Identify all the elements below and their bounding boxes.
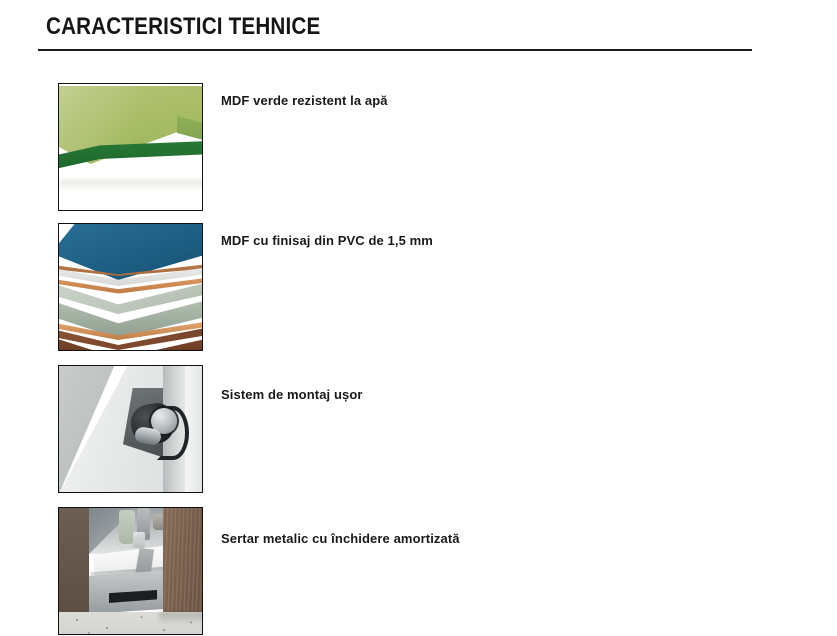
- page-header: CARACTERISTICI TEHNICE: [0, 0, 837, 58]
- green-mdf-board-illustration: [59, 84, 202, 210]
- feature-image-mounting-system: [58, 365, 203, 493]
- feature-row: Sertar metalic cu închidere amortizată: [0, 507, 837, 635]
- cabinet-shadow: [159, 612, 203, 624]
- feature-label: Sertar metalic cu închidere amortizată: [221, 531, 460, 546]
- feature-row: MDF verde rezistent la apă: [0, 83, 837, 211]
- mounting-hardware-illustration: [59, 366, 202, 492]
- cabinet-left-side: [59, 508, 89, 616]
- pvc-layered-boards-illustration: [59, 224, 202, 350]
- feature-image-pvc-layers: [58, 223, 203, 351]
- feature-label: MDF cu finisaj din PVC de 1,5 mm: [221, 233, 433, 248]
- feature-row: Sistem de montaj ușor: [0, 365, 837, 493]
- feature-label: MDF verde rezistent la apă: [221, 93, 388, 108]
- feature-row: MDF cu finisaj din PVC de 1,5 mm: [0, 223, 837, 351]
- soft-close-drawer-illustration: [59, 508, 202, 634]
- feature-image-drawer: [58, 507, 203, 635]
- cabinet-right-wood-grain: [163, 508, 203, 620]
- page-title: CARACTERISTICI TEHNICE: [46, 13, 320, 41]
- feature-image-green-mdf: [58, 83, 203, 211]
- board-shadow: [59, 180, 203, 190]
- board-right-edge: [177, 116, 203, 166]
- title-divider: [38, 49, 752, 51]
- glass: [133, 532, 145, 548]
- feature-label: Sistem de montaj ușor: [221, 387, 363, 402]
